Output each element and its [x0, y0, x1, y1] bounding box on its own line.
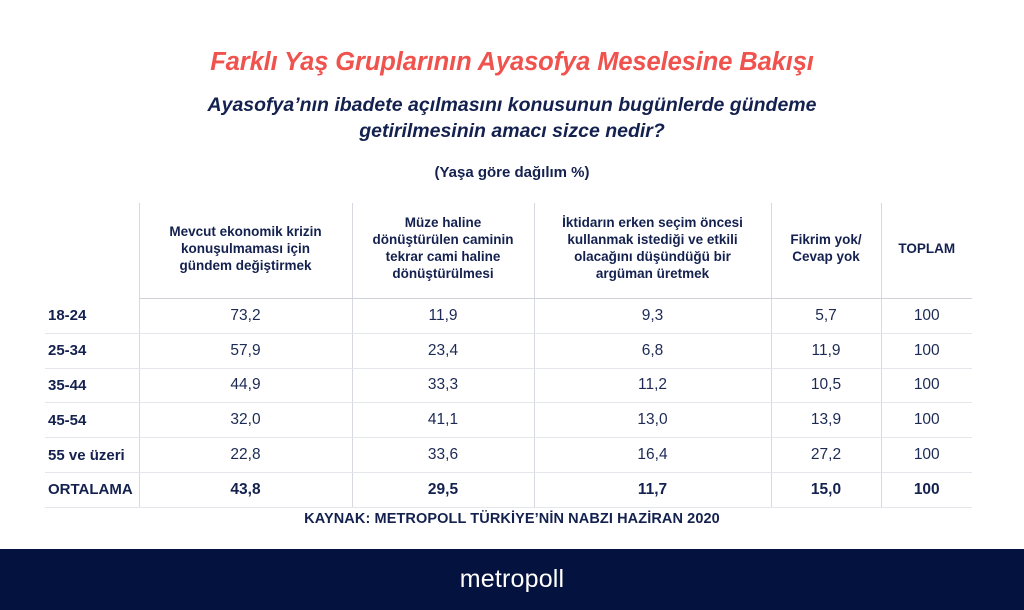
cell-value: 44,9 [139, 368, 352, 403]
row-label-25-34: 25-34 [45, 333, 139, 368]
cell-value: 11,9 [771, 333, 881, 368]
column-header-line: Müze haline [360, 214, 527, 231]
column-header-line: konuşulmaması için [147, 240, 345, 257]
table-row: 45-54 32,0 41,1 13,0 13,9 100 [45, 403, 972, 438]
cell-total: 100 [881, 368, 972, 403]
cell-value: 73,2 [139, 299, 352, 334]
column-header-line: kullanmak istediği ve etkili [542, 231, 764, 248]
footer-bar: metropoll [0, 549, 1024, 610]
column-header-line: dönüştürülmesi [360, 265, 527, 282]
cell-value: 43,8 [139, 472, 352, 507]
cell-value: 16,4 [534, 438, 771, 473]
cell-value: 9,3 [534, 299, 771, 334]
cell-value: 33,3 [352, 368, 534, 403]
results-table: Mevcut ekonomik krizin konuşulmaması içi… [45, 203, 972, 508]
table-corner-cell [45, 203, 139, 299]
cell-value: 57,9 [139, 333, 352, 368]
column-header-line: tekrar cami haline [360, 248, 527, 265]
cell-value: 11,9 [352, 299, 534, 334]
cell-value: 23,4 [352, 333, 534, 368]
column-header-line: dönüştürülen caminin [360, 231, 527, 248]
cell-value: 11,7 [534, 472, 771, 507]
table-row-average: ORTALAMA 43,8 29,5 11,7 15,0 100 [45, 472, 972, 507]
column-header-museum-to-mosque: Müze haline dönüştürülen caminin tekrar … [352, 203, 534, 299]
table-row: 35-44 44,9 33,3 11,2 10,5 100 [45, 368, 972, 403]
column-header-total: TOPLAM [881, 203, 972, 299]
cell-total: 100 [881, 299, 972, 334]
cell-value: 6,8 [534, 333, 771, 368]
column-header-line: Cevap yok [779, 248, 874, 265]
table-row: 55 ve üzeri 22,8 33,6 16,4 27,2 100 [45, 438, 972, 473]
table-row: 18-24 73,2 11,9 9,3 5,7 100 [45, 299, 972, 334]
cell-total: 100 [881, 403, 972, 438]
question-subtitle: Ayasofya’nın ibadete açılmasını konusunu… [152, 92, 872, 144]
cell-total: 100 [881, 472, 972, 507]
column-header-line: olacağını düşündüğü bir [542, 248, 764, 265]
row-label-45-54: 45-54 [45, 403, 139, 438]
column-header-line: Fikrim yok/ [779, 231, 874, 248]
table-body: 18-24 73,2 11,9 9,3 5,7 100 25-34 57,9 2… [45, 299, 972, 508]
table-header-row: Mevcut ekonomik krizin konuşulmaması içi… [45, 203, 972, 299]
cell-value: 11,2 [534, 368, 771, 403]
page-title: Farklı Yaş Gruplarının Ayasofya Meselesi… [0, 48, 1024, 77]
row-label-18-24: 18-24 [45, 299, 139, 334]
column-header-line: gündem değiştirmek [147, 257, 345, 274]
distribution-note: (Yaşa göre dağılım %) [0, 164, 1024, 181]
column-header-line: Mevcut ekonomik krizin [147, 223, 345, 240]
cell-value: 32,0 [139, 403, 352, 438]
cell-value: 13,9 [771, 403, 881, 438]
metropoll-logo: metropoll [0, 549, 1024, 610]
table-row: 25-34 57,9 23,4 6,8 11,9 100 [45, 333, 972, 368]
cell-value: 15,0 [771, 472, 881, 507]
column-header-economic-crisis: Mevcut ekonomik krizin konuşulmaması içi… [139, 203, 352, 299]
column-header-line: argüman üretmek [542, 265, 764, 282]
row-label-35-44: 35-44 [45, 368, 139, 403]
row-label-average: ORTALAMA [45, 472, 139, 507]
results-table-container: Mevcut ekonomik krizin konuşulmaması içi… [45, 203, 972, 508]
cell-value: 29,5 [352, 472, 534, 507]
cell-value: 27,2 [771, 438, 881, 473]
column-header-line: İktidarın erken seçim öncesi [542, 214, 764, 231]
cell-total: 100 [881, 333, 972, 368]
cell-value: 33,6 [352, 438, 534, 473]
cell-value: 13,0 [534, 403, 771, 438]
row-label-55-plus: 55 ve üzeri [45, 438, 139, 473]
cell-total: 100 [881, 438, 972, 473]
column-header-no-opinion: Fikrim yok/ Cevap yok [771, 203, 881, 299]
cell-value: 10,5 [771, 368, 881, 403]
source-caption: KAYNAK: METROPOLL TÜRKİYE’NİN NABZI HAZİ… [0, 511, 1024, 527]
cell-value: 22,8 [139, 438, 352, 473]
cell-value: 5,7 [771, 299, 881, 334]
table-header: Mevcut ekonomik krizin konuşulmaması içi… [45, 203, 972, 299]
poll-result-infographic: Farklı Yaş Gruplarının Ayasofya Meselesi… [0, 0, 1024, 610]
column-header-election-argument: İktidarın erken seçim öncesi kullanmak i… [534, 203, 771, 299]
cell-value: 41,1 [352, 403, 534, 438]
